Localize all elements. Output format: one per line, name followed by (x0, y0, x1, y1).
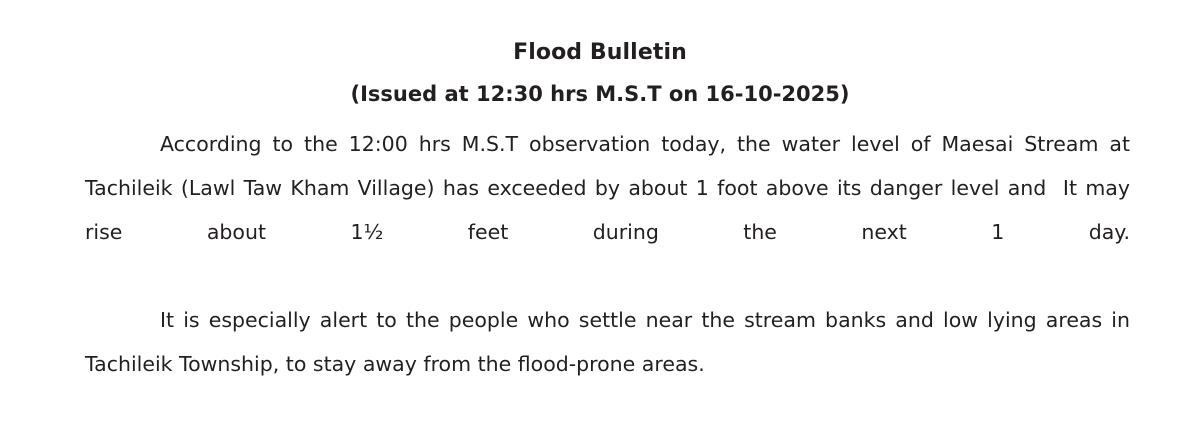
flood-bulletin-document: Flood Bulletin (Issued at 12:30 hrs M.S.… (0, 0, 1200, 430)
paragraph-public-alert: It is especially alert to the people who… (85, 298, 1130, 386)
paragraph-water-level-observation: According to the 12:00 hrs M.S.T observa… (85, 122, 1130, 298)
issued-timestamp-subtitle: (Issued at 12:30 hrs M.S.T on 16-10-2025… (0, 68, 1200, 108)
page-title: Flood Bulletin (0, 0, 1200, 68)
bulletin-body: According to the 12:00 hrs M.S.T observa… (0, 122, 1200, 386)
